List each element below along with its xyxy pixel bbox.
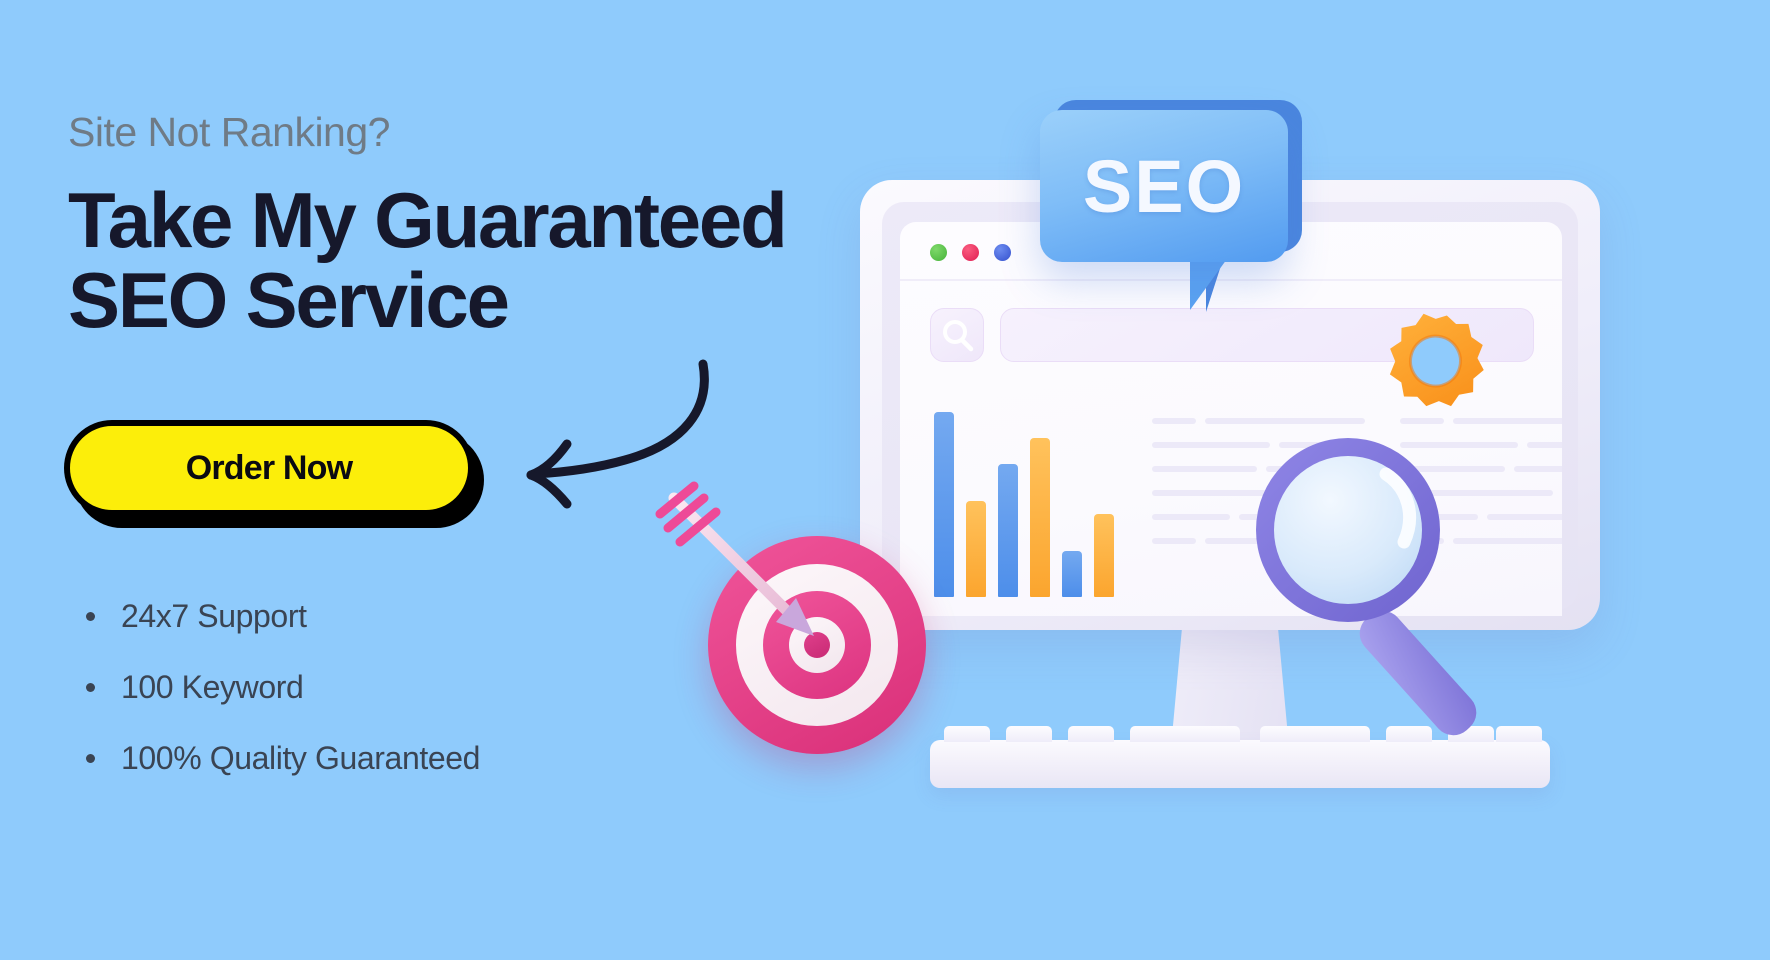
bullet-dot-icon [86,683,95,692]
list-item-label: 100 Keyword [121,669,303,706]
result-line [1152,418,1380,424]
result-line-segment [1527,442,1562,448]
bullet-dot-icon [86,754,95,763]
dart-arrow-icon [646,470,876,700]
result-line [1400,418,1562,424]
list-item-label: 24x7 Support [121,598,307,635]
chart-bar [998,464,1018,597]
list-item: 100% Quality Guaranteed [86,740,706,777]
seo-speech-bubble: SEO [1040,92,1310,302]
seo-illustration: SEO [700,40,1770,920]
feature-list: 24x7 Support 100 Keyword 100% Quality Gu… [86,598,706,811]
order-now-button[interactable]: Order Now [64,420,474,516]
result-line-segment [1152,418,1196,424]
keyboard [930,740,1550,788]
result-line-segment [1152,538,1196,544]
keyboard-key [1006,726,1052,742]
traffic-dot-blue-icon[interactable] [994,244,1011,261]
result-line-segment [1453,418,1562,424]
magnifier-icon [1248,430,1528,740]
list-item: 100 Keyword [86,669,706,706]
result-line-segment [1400,418,1444,424]
chart-bar [1062,551,1082,597]
gear-icon [1380,308,1490,418]
chart-bar [1094,514,1114,597]
result-line-segment [1205,418,1365,424]
order-now-button-label: Order Now [186,449,353,488]
dartboard-target-icon [652,480,982,810]
keyboard-key [1068,726,1114,742]
list-item: 24x7 Support [86,598,706,635]
result-line-segment [1152,514,1230,520]
cta-container: Order Now [64,420,484,525]
seo-service-banner: Site Not Ranking? Take My Guaranteed SEO… [0,0,1770,960]
list-item-label: 100% Quality Guaranteed [121,740,480,777]
bubble-body: SEO [1040,110,1288,262]
traffic-dot-green-icon[interactable] [930,244,947,261]
keyboard-key [1130,726,1240,742]
bubble-label: SEO [1083,144,1245,229]
result-line-segment [1152,466,1257,472]
search-icon[interactable] [930,308,984,362]
traffic-dot-red-icon[interactable] [962,244,979,261]
bullet-dot-icon [86,612,95,621]
chart-bar [1030,438,1050,597]
